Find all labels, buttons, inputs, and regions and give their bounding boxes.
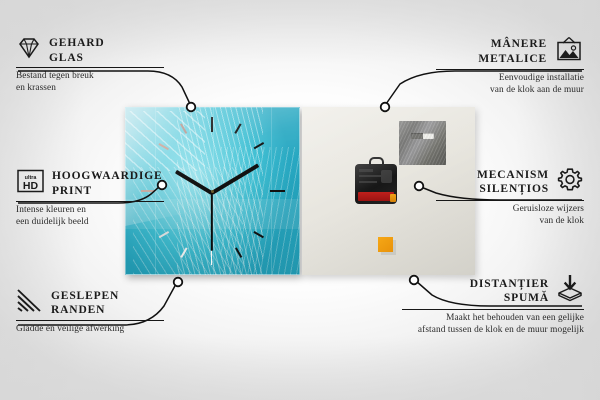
ultra-hd-icon: ultra HD (16, 168, 45, 199)
svg-text:HD: HD (23, 180, 39, 192)
beveled-edges-icon (16, 288, 44, 318)
infographic-canvas: GEHARD GLAS Bestand tegen breuk en krass… (0, 0, 600, 400)
feature-rule (16, 320, 164, 321)
product-photo (125, 107, 475, 275)
feature-title: HOOGWAARDIGE PRINT (52, 169, 163, 198)
feature-title: DISTANȚIER SPUMĂ (470, 277, 549, 306)
diamond-icon (16, 36, 42, 65)
gear-icon (556, 166, 584, 198)
feature-rule (16, 201, 164, 202)
feature-distantier-spuma: DISTANȚIER SPUMĂ Maakt het behouden van … (400, 275, 584, 337)
feature-title: GESLEPEN RANDEN (51, 289, 119, 318)
picture-hanger-icon (554, 36, 584, 67)
feature-description: Bestand tegen breuk en krassen (16, 71, 166, 94)
feature-hoogwaardige-print: ultra HD HOOGWAARDIGE PRINT Intense kleu… (16, 168, 166, 229)
foam-spacer-icon (556, 275, 584, 307)
feature-description: Maakt het behouden van een gelijke afsta… (400, 313, 584, 336)
feature-mecanism-silentios: MECANISM SILENȚIOS Geruisloze wijzers va… (434, 166, 584, 228)
feature-geslepen-randen: GESLEPEN RANDEN Gladde en veilige afwerk… (16, 288, 166, 336)
feature-description: Eenvoudige installatie van de klok aan d… (434, 73, 584, 96)
feature-title: GEHARD GLAS (49, 36, 105, 65)
feature-rule (16, 67, 164, 68)
feature-rule (436, 69, 584, 70)
feature-description: Intense kleuren en een duidelijk beeld (16, 205, 166, 228)
feature-title: MECANISM SILENȚIOS (477, 168, 549, 197)
feature-title: MÂNERE METALICE (478, 37, 547, 66)
feature-manere-metalice: MÂNERE METALICE Eenvoudige installatie v… (434, 36, 584, 97)
feature-gehard-glas: GEHARD GLAS Bestand tegen breuk en krass… (16, 36, 166, 95)
feature-description: Gladde en veilige afwerking (16, 324, 166, 336)
feature-description: Geruisloze wijzers van de klok (434, 204, 584, 227)
feature-rule (436, 200, 584, 201)
feature-rule (402, 309, 584, 310)
